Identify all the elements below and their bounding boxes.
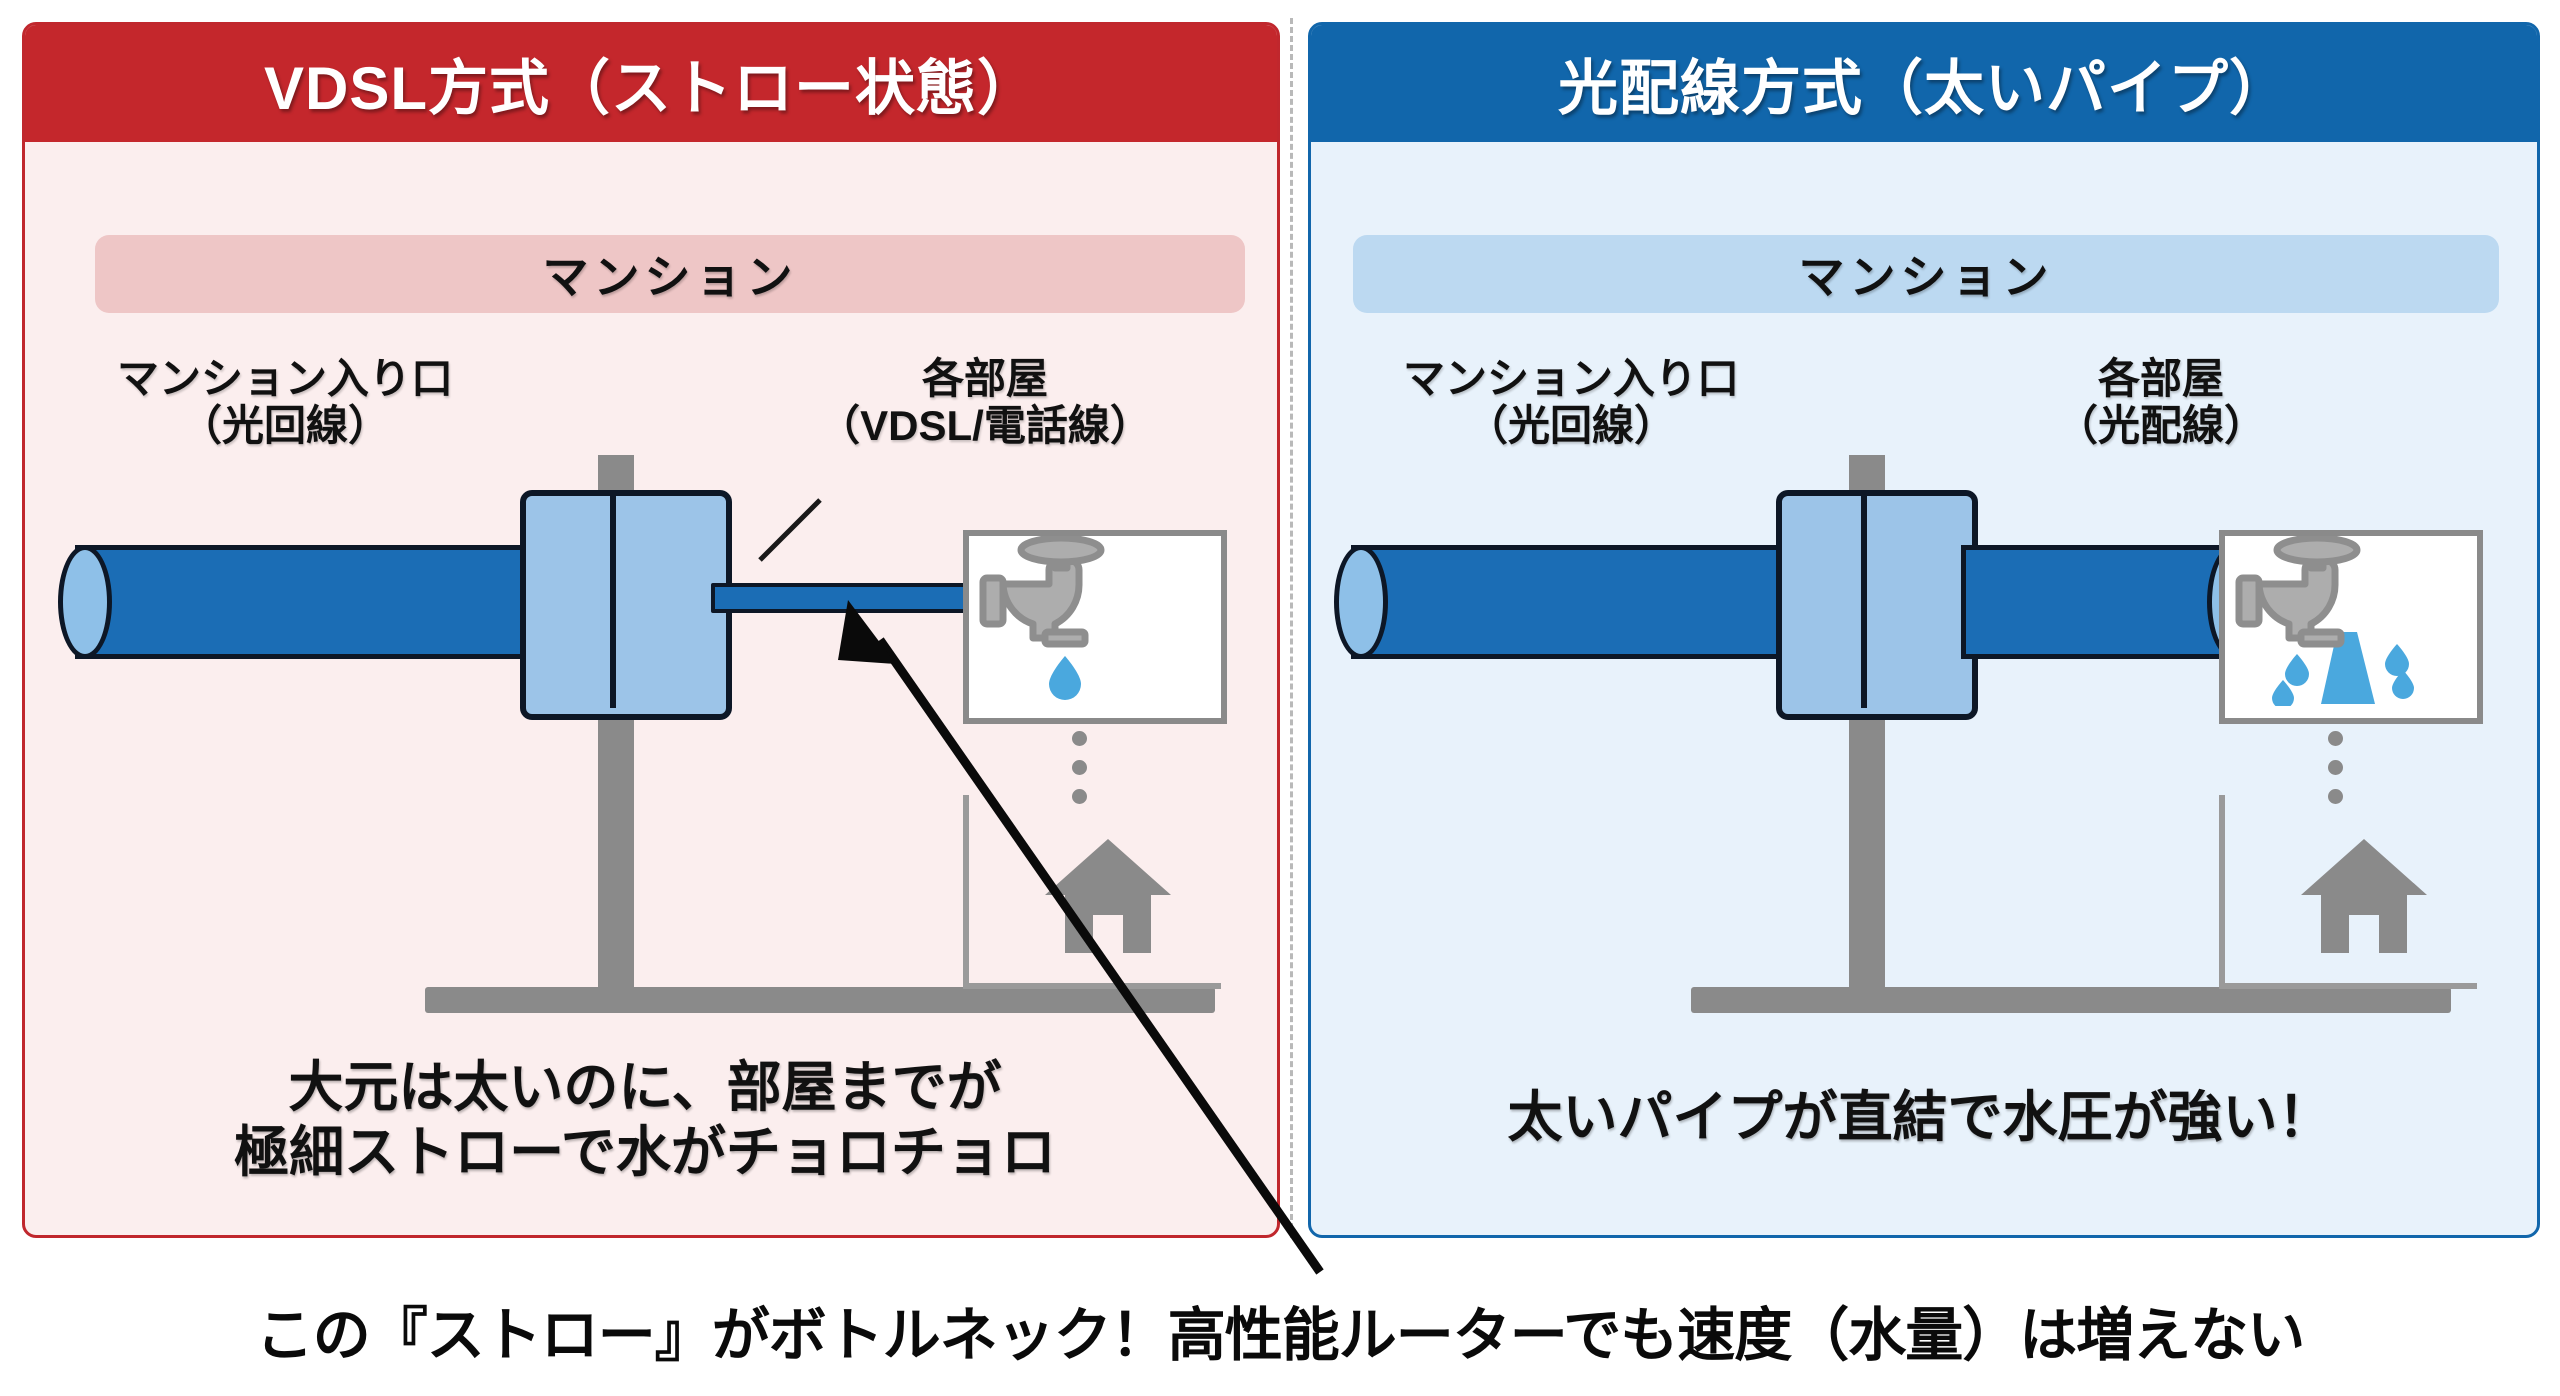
- water-drop-icon: [1049, 656, 1081, 700]
- fiber-pipe-cap-right: [1334, 545, 1388, 659]
- panel-hikari-title: 光配線方式（太いパイプ）: [1558, 40, 2290, 127]
- faucet-dripping-icon: [969, 536, 1209, 706]
- entrance-label-right: マンション入り口 （光回線）: [1308, 355, 1841, 449]
- vertical-ellipsis-right: [2328, 731, 2343, 804]
- panel-hikari-header: 光配線方式（太いパイプ）: [1310, 24, 2538, 142]
- mansion-band-left-label: マンション: [543, 241, 798, 307]
- bottom-caption: この『ストロー』がボトルネック！高性能ルーターでも速度（水量）は増えない: [0, 1288, 2560, 1372]
- junction-box-right: [1776, 490, 1978, 720]
- room-label-right: 各部屋 （光配線）: [1931, 355, 2391, 449]
- mansion-band-left: マンション: [95, 235, 1245, 313]
- panel-divider: [1290, 18, 1293, 1238]
- mansion-band-right-label: マンション: [1799, 241, 2054, 307]
- room-card-left: [963, 530, 1227, 724]
- fiber-pipe-cap-left: [58, 545, 112, 659]
- fiber-pipe-left: [75, 545, 575, 659]
- caption-hikari: 太いパイプが直結で水圧が強い！: [1330, 1085, 2510, 1150]
- panel-vdsl-title: VDSL方式（ストロー状態）: [264, 40, 1038, 127]
- vertical-ellipsis-left: [1072, 731, 1087, 804]
- junction-box-seam-right: [1861, 490, 1867, 708]
- house-icon: [2299, 835, 2429, 957]
- mansion-band-right: マンション: [1353, 235, 2499, 313]
- panel-vdsl-header: VDSL方式（ストロー状態）: [24, 24, 1278, 142]
- floor-slab-left: [425, 987, 1215, 1013]
- hikari-room-pipe: [1961, 545, 2239, 659]
- room-card-right: [2219, 530, 2483, 724]
- house-icon: [1043, 835, 1173, 957]
- fiber-pipe-right: [1351, 545, 1831, 659]
- infographic-stage: VDSL方式（ストロー状態） マンション マンション入り口 （光回線） 各部屋 …: [0, 0, 2560, 1396]
- room-label-left: 各部屋 （VDSL/電話線）: [725, 355, 1245, 449]
- entrance-label-left: マンション入り口 （光回線）: [35, 355, 535, 449]
- caption-vdsl: 大元は太いのに、部屋までが 極細ストローで水がチョロチョロ: [60, 1055, 1230, 1185]
- straw-vdsl-pipe: [711, 583, 987, 613]
- floor-slab-right: [1691, 987, 2451, 1013]
- panel-hikari: 光配線方式（太いパイプ） マンション マンション入り口 （光回線） 各部屋 （光…: [1308, 22, 2540, 1238]
- faucet-spraying-icon: [2225, 536, 2465, 706]
- junction-box-left: [520, 490, 732, 720]
- junction-box-seam-left: [610, 490, 616, 708]
